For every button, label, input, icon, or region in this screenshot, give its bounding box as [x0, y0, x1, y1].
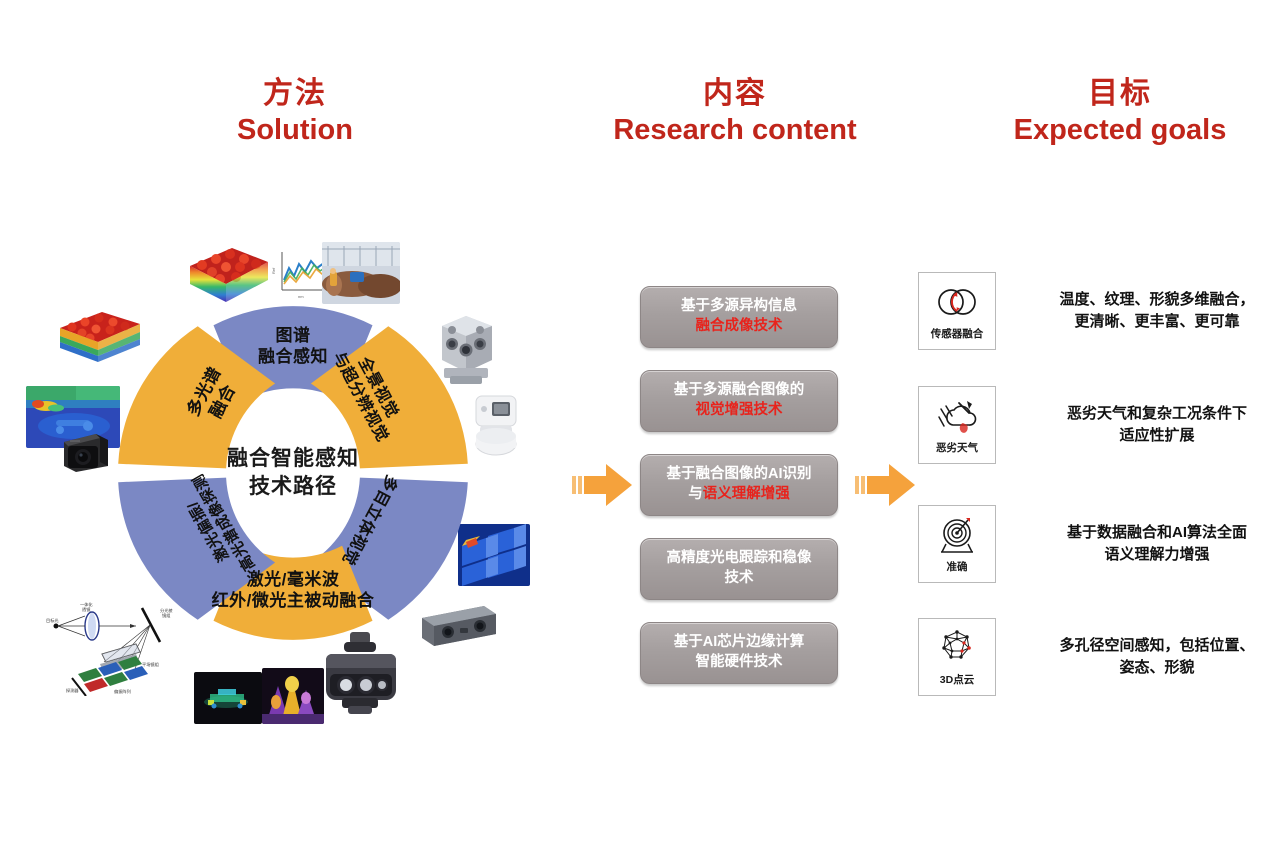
header-cn: 目标	[975, 76, 1265, 111]
thumbnail-thermal-scene-image	[262, 668, 324, 724]
goal-card-label: 传感器融合	[931, 326, 984, 341]
header-cn: 方法	[150, 76, 440, 111]
research-box[interactable]: 基于AI芯片边缘计算 智能硬件技术	[640, 622, 838, 684]
research-box-line1: 基于AI芯片边缘计算	[674, 633, 805, 653]
column-header-research: 内容 Research content	[590, 76, 880, 148]
research-box[interactable]: 基于多源融合图像的 视觉增强技术	[640, 370, 838, 432]
goal-text-line2: 适应性扩展	[1032, 425, 1268, 447]
goal-text: 恶劣天气和复杂工况条件下 适应性扩展	[1032, 403, 1268, 447]
point-cloud-icon	[933, 627, 981, 669]
goal-row: 恶劣天气 恶劣天气和复杂工况条件下 适应性扩展	[918, 386, 1268, 464]
header-en: Expected goals	[975, 113, 1265, 147]
header-en: Solution	[150, 113, 440, 147]
target-accuracy-icon	[933, 514, 981, 556]
research-box-line2: 智能硬件技术	[674, 653, 805, 673]
diagram-canvas: 方法 Solution 内容 Research content 目标 Expec…	[0, 0, 1268, 866]
goal-text-line2: 更清晰、更丰富、更可靠	[1032, 311, 1268, 333]
svg-text:探测器: 探测器	[66, 687, 79, 694]
goal-text: 基于数据融合和AI算法全面 语义理解力增强	[1032, 522, 1268, 566]
bad-weather-icon	[933, 395, 981, 437]
goal-text: 温度、纹理、形貌多维融合， 更清晰、更丰富、更可靠	[1032, 289, 1268, 333]
thumbnail-industrial-pipeline-photo	[322, 242, 400, 304]
thumbnail-lidar-point-cloud	[194, 672, 262, 724]
technology-path-wheel: 融合智能感知 技术路径 图谱 融合感知 全景视觉 与超分辨视觉 多目立体视觉 激…	[118, 298, 468, 648]
goal-row: 3D点云 多孔径空间感知，包括位置、 姿态、形貌	[918, 618, 1268, 696]
arrow-content-to-goals	[855, 460, 917, 510]
svg-text:平场镜组: 平场镜组	[142, 661, 159, 668]
goal-text-line1: 基于数据融合和AI算法全面	[1032, 522, 1268, 544]
wheel-label-bottom: 激光/毫米波 红外/微光主被动融合	[183, 570, 403, 611]
research-box-line1: 基于融合图像的AI识别	[667, 465, 812, 485]
wheel-label-bottom-line2: 红外/微光主被动融合	[183, 591, 403, 612]
goal-text-line2: 语义理解力增强	[1032, 544, 1268, 566]
column-header-goals: 目标 Expected goals	[975, 76, 1265, 148]
sensor-fusion-icon	[933, 281, 981, 323]
goal-card-label: 恶劣天气	[936, 440, 978, 455]
goal-text-line1: 多孔径空间感知，包括位置、	[1032, 635, 1268, 657]
svg-text:目标光: 目标光	[46, 617, 59, 624]
goal-text-line1: 恶劣天气和复杂工况条件下	[1032, 403, 1268, 425]
research-box-line1: 基于多源异构信息	[681, 297, 797, 317]
goal-card-label: 准确	[947, 559, 968, 574]
research-box[interactable]: 基于融合图像的AI识别 与语义理解增强	[640, 454, 838, 516]
header-en: Research content	[590, 113, 880, 147]
thumbnail-black-camera-module	[56, 424, 112, 476]
goal-card[interactable]: 传感器融合	[918, 272, 996, 350]
thumbnail-scanner-device	[468, 392, 524, 458]
research-box-line1: 基于多源融合图像的	[674, 381, 805, 401]
goal-card-label: 3D点云	[940, 672, 974, 687]
goal-card[interactable]: 3D点云	[918, 618, 996, 696]
goal-card[interactable]: 恶劣天气	[918, 386, 996, 464]
goal-text: 多孔径空间感知，包括位置、 姿态、形貌	[1032, 635, 1268, 679]
wheel-label-bottom-line1: 激光/毫米波	[183, 570, 403, 591]
svg-text:Ref: Ref	[272, 267, 276, 274]
goal-row: 准确 基于数据融合和AI算法全面 语义理解力增强	[918, 505, 1268, 583]
goal-text-line1: 温度、纹理、形貌多维融合，	[1032, 289, 1268, 311]
thumbnail-blue-3d-scan-blocks	[458, 524, 530, 586]
goal-text-line2: 姿态、形貌	[1032, 657, 1268, 679]
research-box-line2: 视觉增强技术	[674, 401, 805, 421]
svg-text:透镜: 透镜	[82, 606, 91, 613]
research-box-line2-highlight: 语义理解增强	[703, 486, 790, 502]
research-box-line2: 技术	[667, 569, 812, 589]
svg-text:偏振阵列: 偏振阵列	[114, 688, 131, 695]
header-cn: 内容	[590, 76, 880, 111]
research-box-line2: 融合成像技术	[681, 317, 797, 337]
research-box-line1: 高精度光电跟踪和稳像	[667, 549, 812, 569]
column-header-solution: 方法 Solution	[150, 76, 440, 148]
research-box[interactable]: 基于多源异构信息 融合成像技术	[640, 286, 838, 348]
research-content-column: 基于多源异构信息 融合成像技术 基于多源融合图像的 视觉增强技术 基于融合图像的…	[640, 286, 836, 706]
goal-card[interactable]: 准确	[918, 505, 996, 583]
research-box-line2-prefix: 与	[688, 486, 703, 502]
arrow-solution-to-content	[572, 460, 634, 510]
goal-row: 传感器融合 温度、纹理、形貌多维融合， 更清晰、更丰富、更可靠	[918, 272, 1268, 350]
research-box[interactable]: 高精度光电跟踪和稳像 技术	[640, 538, 838, 600]
